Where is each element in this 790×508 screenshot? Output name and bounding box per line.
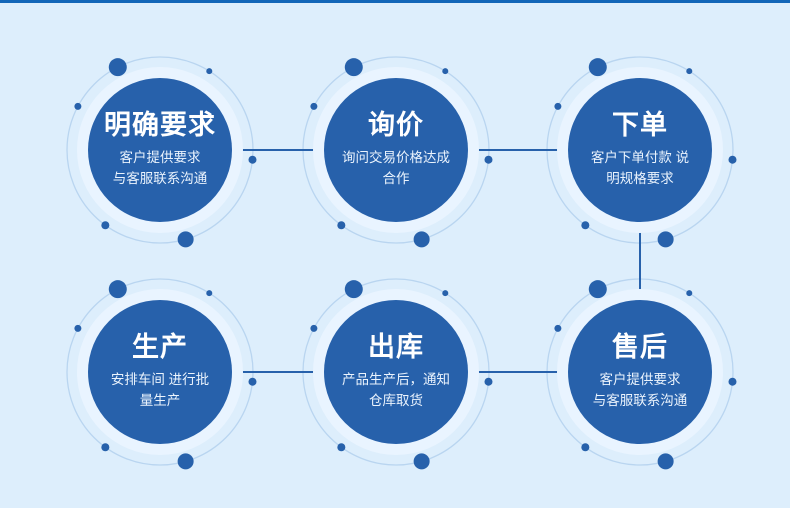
node-core-circle: 出库产品生产后，通知仓库取货 [324,300,468,444]
node-title: 售后 [612,332,668,363]
node-title: 下单 [612,110,668,141]
flow-node-生产[interactable]: 生产安排车间 进行批量生产 [67,279,253,465]
top-accent-rule [0,0,790,3]
node-core-circle: 售后客户提供要求与客服联系沟通 [568,300,712,444]
node-title: 出库 [368,332,424,363]
flow-node-下单[interactable]: 下单客户下单付款 说明规格要求 [547,57,733,243]
flow-node-询价[interactable]: 询价询问交易价格达成合作 [303,57,489,243]
flow-node-明确要求[interactable]: 明确要求客户提供要求与客服联系沟通 [67,57,253,243]
node-title: 生产 [132,332,188,363]
node-description: 客户下单付款 说明规格要求 [576,148,704,190]
node-description: 客户提供要求与客服联系沟通 [576,370,704,412]
node-description: 询问交易价格达成合作 [332,148,460,190]
node-core-circle: 询价询问交易价格达成合作 [324,78,468,222]
flow-diagram-canvas: 明确要求客户提供要求与客服联系沟通询价询问交易价格达成合作下单客户下单付款 说明… [0,0,790,508]
flow-node-出库[interactable]: 出库产品生产后，通知仓库取货 [303,279,489,465]
flow-node-售后[interactable]: 售后客户提供要求与客服联系沟通 [547,279,733,465]
node-description: 安排车间 进行批量生产 [96,370,224,412]
node-core-circle: 明确要求客户提供要求与客服联系沟通 [88,78,232,222]
node-description: 客户提供要求与客服联系沟通 [96,148,224,190]
node-title: 明确要求 [104,110,216,141]
node-description: 产品生产后，通知仓库取货 [332,370,460,412]
node-core-circle: 下单客户下单付款 说明规格要求 [568,78,712,222]
node-title: 询价 [368,110,424,141]
node-core-circle: 生产安排车间 进行批量生产 [88,300,232,444]
